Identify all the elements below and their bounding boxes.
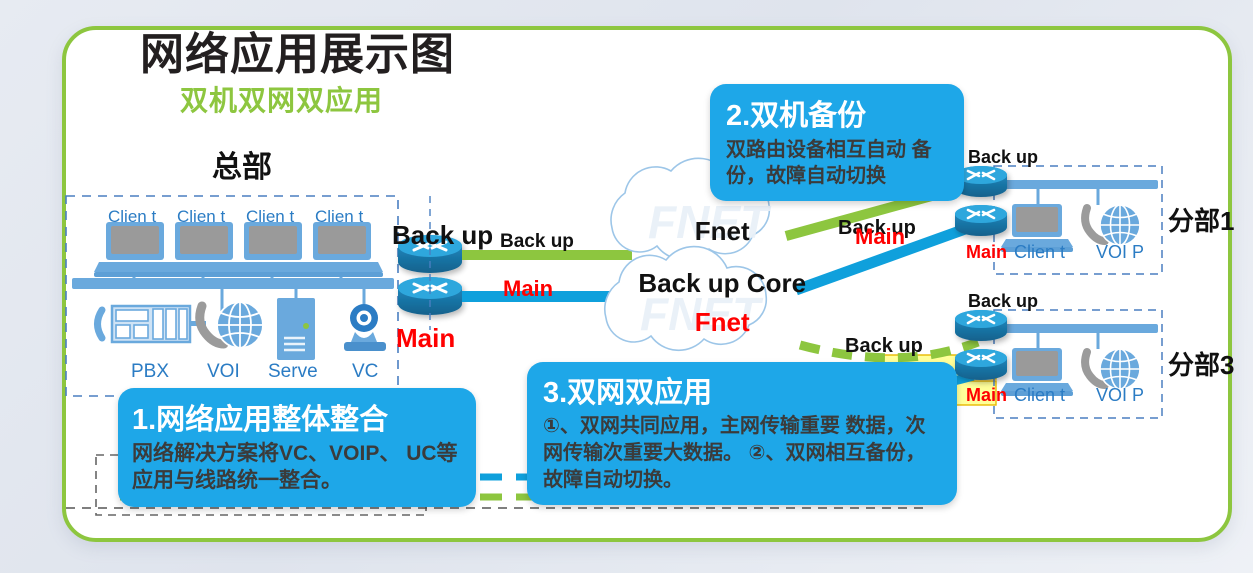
hq-client-laptops	[94, 222, 383, 277]
callout-3-body: ①、双网共同应用，主网传输重要 数据，次网传输次重要大数据。 ②、双网相互备份，…	[543, 413, 943, 493]
branch3-router-main	[955, 349, 1007, 380]
page-subtitle: 双机双网双应用	[180, 86, 383, 115]
callout-2-body: 双路由设备相互自动 备份，故障自动切换	[726, 137, 950, 189]
cloud-main-line1: Fnet	[695, 307, 750, 337]
branch3-client-label: Clien t	[1014, 386, 1058, 405]
hq-lan-bus	[72, 278, 394, 289]
branch3-voip-icon	[1085, 349, 1140, 389]
link-label-branch1-main: Main	[855, 225, 905, 248]
hq-device-label-voip: VOI	[207, 362, 240, 382]
hq-client-label-4: Clien t	[315, 208, 365, 226]
callout-2-heading: 2.双机备份	[726, 92, 950, 134]
hq-router-main-label: Main	[396, 325, 455, 352]
hq-router-backup-label: Back up	[392, 222, 493, 249]
branch3-lan-bus	[996, 324, 1158, 333]
branch1-drops	[1038, 189, 1098, 205]
branch3-router-backup	[955, 310, 1007, 341]
branch1-router-main-label: Main	[966, 243, 1007, 262]
link-label-hq-backup: Back up	[500, 232, 574, 252]
pbx-icon	[98, 306, 207, 342]
callout-3[interactable]: 3.双网双应用 ①、双网共同应用，主网传输重要 数据，次网传输次重要大数据。 ②…	[527, 362, 957, 505]
branch3-name: 分部3	[1168, 352, 1234, 379]
branch1-lan-bus	[996, 180, 1158, 189]
callout-3-heading: 3.双网双应用	[543, 369, 943, 411]
vc-icon	[344, 304, 386, 351]
hq-title: 总部	[212, 152, 272, 184]
branch1-router-main	[955, 205, 1007, 236]
link-label-branch3-backup: Back up	[845, 336, 923, 357]
callout-1-body: 网络解决方案将VC、VOIP、 UC等应用与线路统一整合。	[132, 441, 462, 495]
callout-2[interactable]: 2.双机备份 双路由设备相互自动 备份，故障自动切换	[710, 84, 964, 201]
page-title: 网络应用展示图	[140, 32, 455, 78]
callout-1-heading: 1.网络应用整体整合	[132, 396, 462, 438]
branch1-voip-icon	[1085, 205, 1140, 245]
hq-client-label-2: Clien t	[177, 208, 227, 226]
callout-1[interactable]: 1.网络应用整体整合 网络解决方案将VC、VOIP、 UC等应用与线路统一整合。	[118, 388, 476, 507]
branch3-router-main-label: Main	[966, 386, 1007, 405]
branch1-client-label: Clien t	[1014, 243, 1058, 262]
cloud-backup-core-label: Fnet Back up Core	[600, 192, 830, 296]
branch1-name: 分部1	[1168, 208, 1234, 235]
voip-icon-hq	[200, 302, 263, 348]
hq-router-main	[398, 277, 462, 315]
cloud-backup-line1: Fnet	[695, 216, 750, 246]
hq-device-label-server: Serve	[268, 362, 318, 382]
server-icon	[277, 298, 315, 360]
branch3-drops	[1038, 333, 1098, 349]
link-label-hq-main: Main	[503, 277, 553, 300]
hq-client-label-1: Clien t	[108, 208, 158, 226]
branch1-voip-label: VOI P	[1096, 243, 1130, 262]
hq-client-label-3: Clien t	[246, 208, 296, 226]
hq-device-label-pbx: PBX	[131, 362, 169, 382]
branch1-router-backup-label: Back up	[968, 148, 1038, 167]
hq-device-label-vc: VC	[352, 362, 378, 382]
branch3-router-backup-label: Back up	[968, 292, 1038, 311]
branch3-voip-label: VOI P	[1096, 386, 1130, 405]
